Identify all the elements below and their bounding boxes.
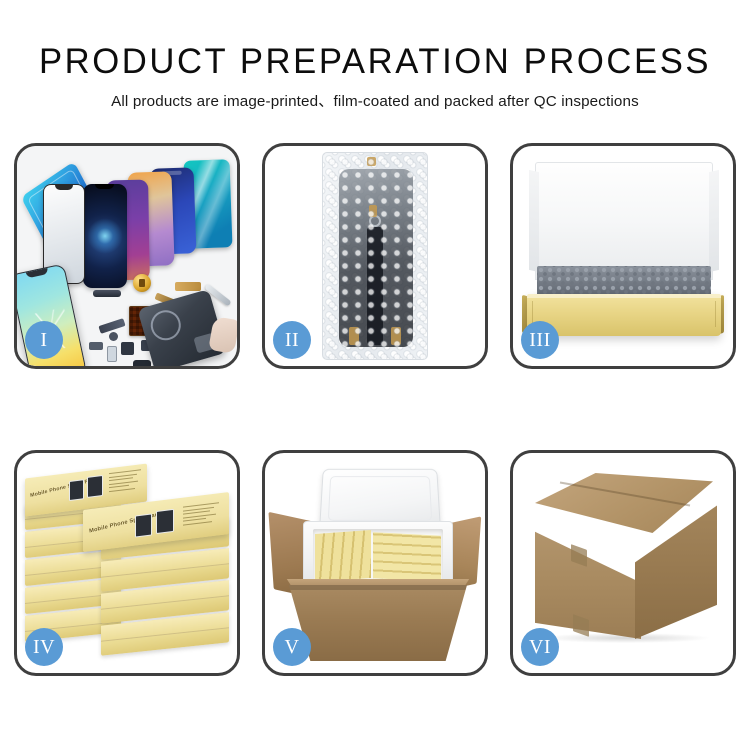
box-thumb-1b [87,475,103,498]
step-panel-3[interactable]: III [510,143,736,369]
box-thumb-1a [69,479,84,501]
step-panel-5[interactable]: V [262,450,488,676]
small-part-8 [89,342,103,350]
small-part-5 [133,360,151,366]
connector-component [93,290,121,297]
process-step-grid: I II [0,0,750,750]
bubble-wrap-bag [322,152,428,360]
wrapped-flex-cable [367,227,383,345]
step-badge-3: III [521,321,559,359]
step-panel-1[interactable]: I [14,143,240,369]
box-spec-lines-2 [183,502,219,532]
step-badge-1: I [25,321,63,359]
tape-tab-2 [391,327,401,345]
tape-tab-4 [367,157,376,166]
speaker-component-icon [133,274,151,292]
flex-cable-gold [175,282,201,291]
phone-screen-dark [83,184,127,288]
carton-front-face [289,585,467,661]
step-panel-4[interactable]: Mobile Phone Spare Parts Mobile Phone Sp… [14,450,240,676]
step-panel-6[interactable]: VI [510,450,736,676]
tape-tab-3 [369,205,377,217]
small-part-6 [109,332,118,341]
step-badge-6: VI [521,628,559,666]
box-spec-lines-1 [109,469,141,497]
tape-tab-1 [349,327,359,345]
step-badge-5: V [273,628,311,666]
small-part-1 [121,342,134,355]
box-thumb-2a [135,513,152,537]
step-panel-2[interactable]: II [262,143,488,369]
product-preparation-infographic: PRODUCT PREPARATION PROCESS All products… [0,0,750,750]
white-foam-lid [535,162,713,280]
step-badge-2: II [273,321,311,359]
step-badge-4: IV [25,628,63,666]
packed-yellow-boxes [313,529,443,583]
box-thumb-2b [156,509,174,534]
small-part-4 [107,346,117,362]
